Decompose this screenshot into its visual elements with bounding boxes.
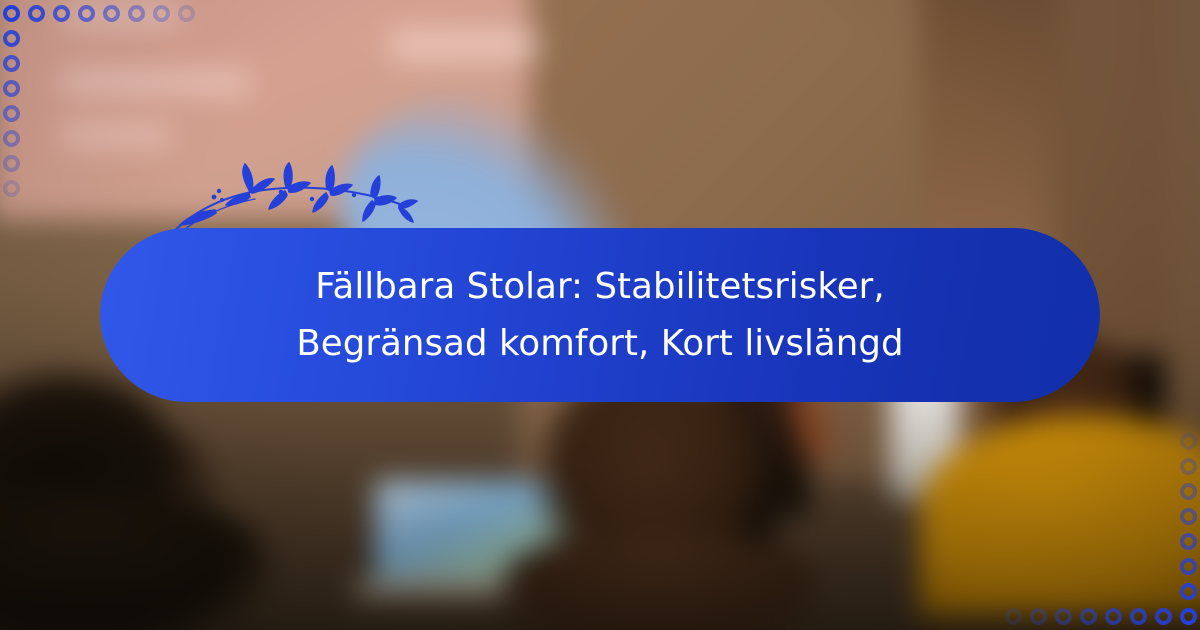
decorative-dot bbox=[1180, 458, 1197, 475]
decorative-dot bbox=[153, 5, 170, 22]
decorative-dot bbox=[3, 30, 20, 47]
decorative-dot bbox=[1080, 608, 1097, 625]
decorative-dot bbox=[1055, 608, 1072, 625]
decorative-dot bbox=[3, 155, 20, 172]
decorative-dot bbox=[1030, 608, 1047, 625]
decorative-dot bbox=[3, 5, 20, 22]
decorative-dot bbox=[28, 5, 45, 22]
decorative-dot bbox=[1180, 533, 1197, 550]
decorative-dot bbox=[1105, 608, 1122, 625]
decorative-dot bbox=[1180, 483, 1197, 500]
share-card: Fällbara Stolar: Stabilitetsrisker, Begr… bbox=[0, 0, 1200, 630]
decorative-dot bbox=[128, 5, 145, 22]
decorative-dot bbox=[1130, 608, 1147, 625]
decorative-dot bbox=[103, 5, 120, 22]
decorative-dot bbox=[53, 5, 70, 22]
decorative-dot bbox=[78, 5, 95, 22]
decorative-dot bbox=[3, 55, 20, 72]
decorative-dot bbox=[1005, 608, 1022, 625]
decorative-dot bbox=[1155, 608, 1172, 625]
decorative-dot bbox=[1180, 608, 1197, 625]
decorative-dot bbox=[178, 5, 195, 22]
decorative-dot bbox=[3, 105, 20, 122]
decorative-dot bbox=[1180, 433, 1197, 450]
decorative-dot bbox=[1180, 508, 1197, 525]
decorative-dot bbox=[1180, 583, 1197, 600]
decorative-dot bbox=[3, 180, 20, 197]
title-pill: Fällbara Stolar: Stabilitetsrisker, Begr… bbox=[100, 228, 1100, 402]
decorative-dot bbox=[3, 130, 20, 147]
page-title: Fällbara Stolar: Stabilitetsrisker, Begr… bbox=[220, 258, 980, 373]
decorative-dot bbox=[3, 80, 20, 97]
decorative-dot bbox=[1180, 558, 1197, 575]
